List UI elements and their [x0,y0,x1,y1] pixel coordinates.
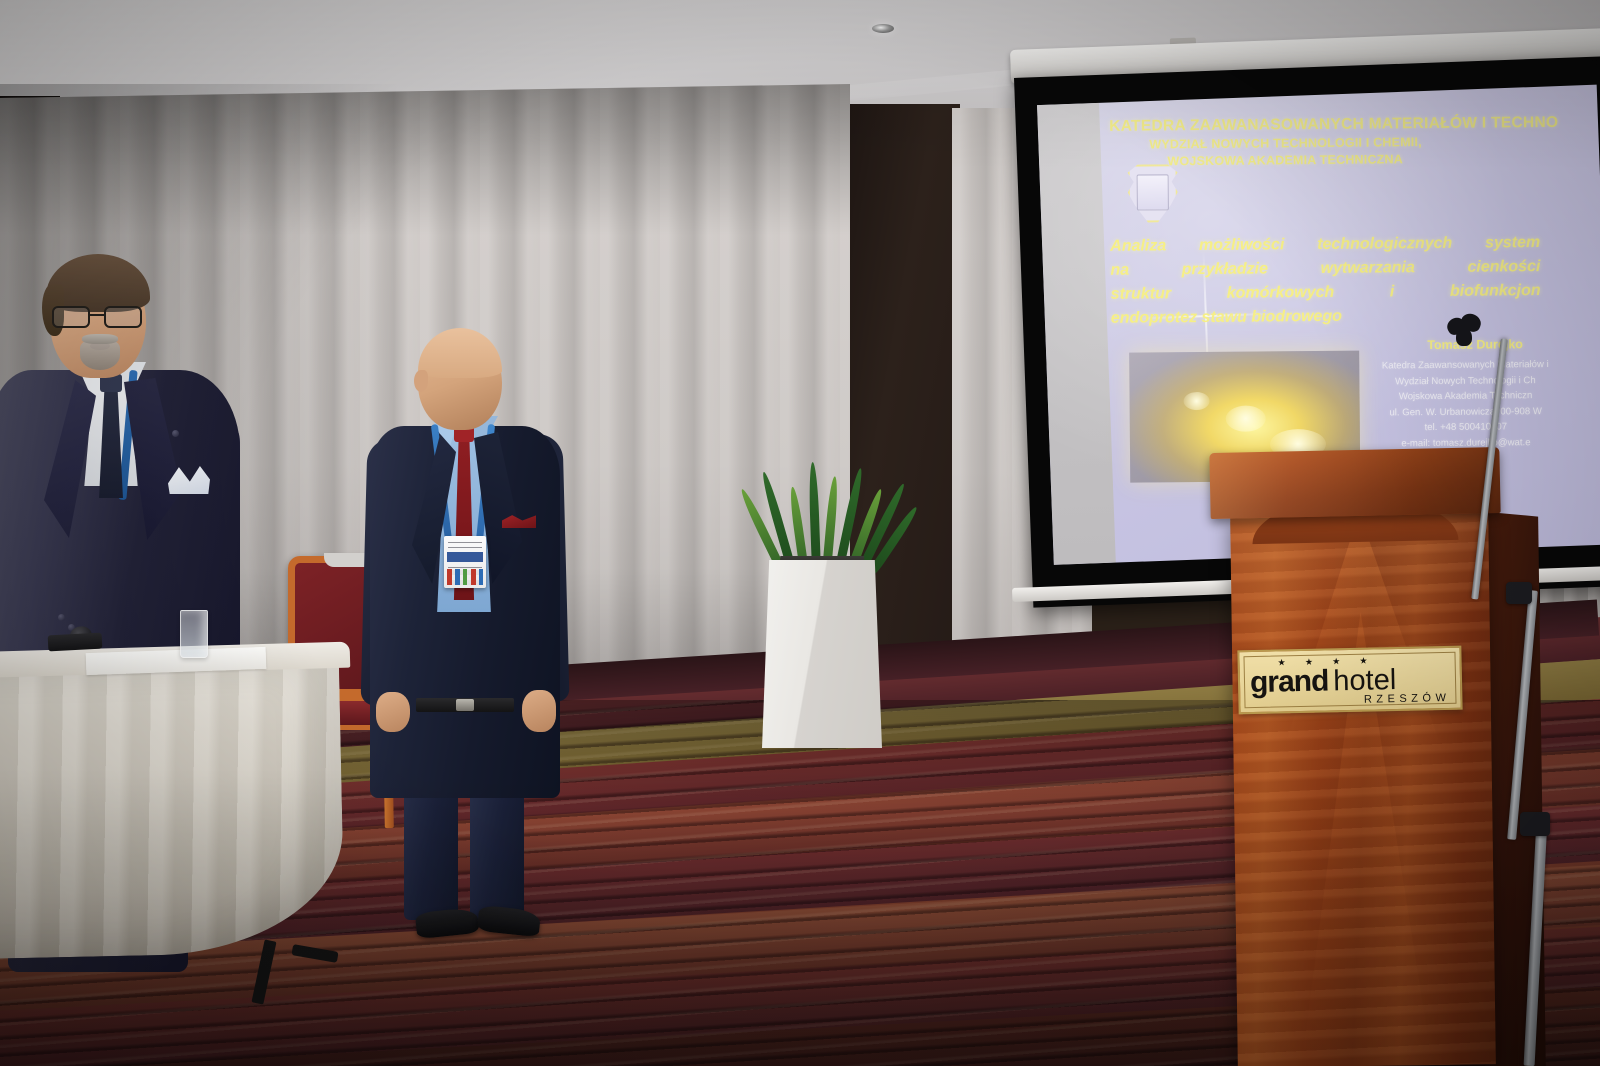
conference-badge [444,536,486,588]
headline-word: endoprotez stawu biodrowego [1111,308,1342,327]
hotel-city: RZESZÓW [1364,692,1451,706]
slide-headline: Analiza możliwości technologicznych syst… [1110,231,1600,331]
headline-word: możliwości [1199,233,1285,258]
belt-buckle [456,699,474,711]
headline-word: przykładzie [1182,257,1268,282]
headline-word: wytwarzania [1320,256,1414,281]
microphone-clip-icon [1447,314,1481,344]
hotel-name-grand: grand [1250,664,1329,700]
university-crest-icon [1128,164,1179,222]
water-glass [180,610,208,658]
hotel-plaque: ★ ★ ★ ★ grand hotel RZESZÓW [1237,646,1462,715]
lectern: ★ ★ ★ ★ grand hotel RZESZÓW [1210,450,1540,1066]
stand-clamp [1520,812,1550,836]
slide-header: KATEDRA ZAAWANASOWANYCH MATERIAŁÓW I TEC… [1109,112,1600,170]
lectern-desktop [1209,447,1500,519]
person-speaker [0,262,250,702]
conference-room-photo: KATEDRA ZAAWANASOWANYCH MATERIAŁÓW I TEC… [0,0,1600,1066]
presenter-bald-scalp [418,328,502,378]
slide-contact-block: Katedra Zaawansowanych Materiałów i Wydz… [1331,357,1600,453]
table-foot [291,944,338,963]
wood-veneer-texture [1230,510,1496,1066]
headline-word: system [1485,231,1540,255]
jacket-button [58,614,65,621]
presenter-ear [414,370,428,392]
ceiling-downlight-icon [872,24,894,33]
headline-word: Analiza [1110,234,1166,258]
presenter-hand-left [376,692,410,732]
headline-word: komórkowych [1227,281,1335,306]
microphone-base [48,633,103,652]
slide-title-line3: WOJSKOWA AKADEMIA TECHNICZNA [1109,149,1600,170]
stand-clamp [1506,582,1532,604]
lectern-front-panel [1230,510,1496,1066]
eyeglasses-icon [52,306,146,328]
person-presenter [370,330,570,930]
headline-word: struktur [1111,282,1172,307]
presenter-hand-right [522,690,556,732]
jacket-button [172,430,179,437]
head-table [0,648,350,968]
headline-word: na [1110,259,1129,283]
headline-word: cienkości [1467,255,1540,280]
planter [762,560,882,748]
speaker-mustache [82,334,118,344]
table-skirt [0,663,345,960]
speaker-goatee [80,340,120,370]
headline-word: i [1390,280,1395,304]
headline-word: technologicznych [1317,232,1452,257]
headline-word: biofunkcjon [1450,279,1541,304]
